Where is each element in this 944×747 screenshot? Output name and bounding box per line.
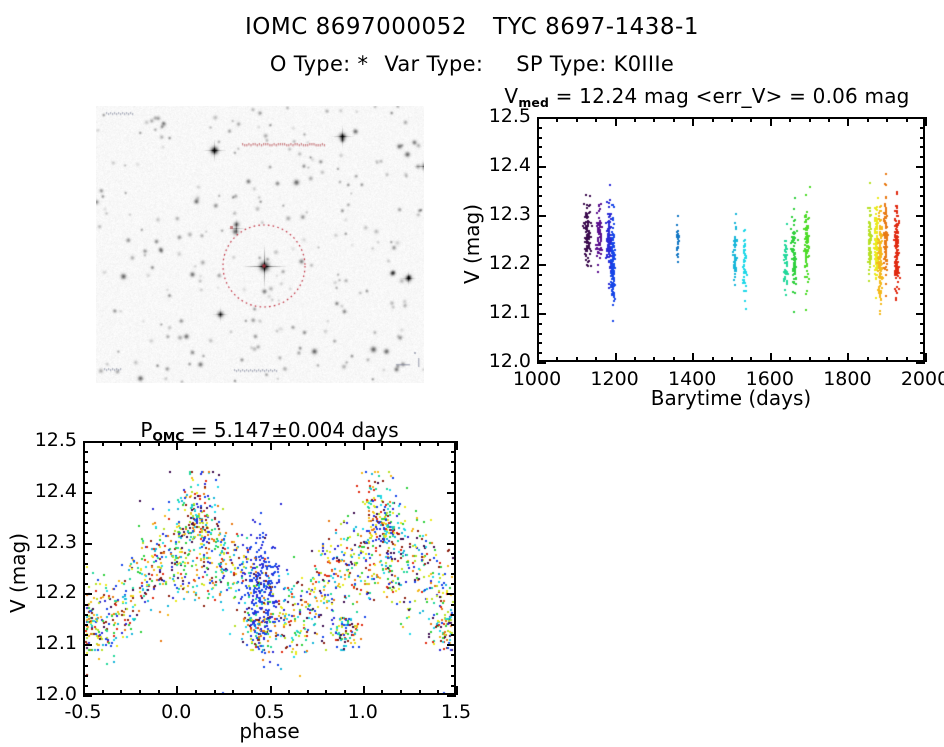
y-tick-label: 12.5 bbox=[475, 105, 531, 127]
axis-tick bbox=[83, 492, 92, 494]
lightcurve-datapoints bbox=[539, 119, 923, 360]
finder-chart bbox=[96, 106, 424, 383]
y-tick-label: 12.1 bbox=[21, 632, 77, 654]
o-type-value: * bbox=[358, 52, 369, 76]
axis-tick bbox=[83, 604, 88, 606]
axis-tick bbox=[214, 441, 216, 446]
catalog-id: IOMC 8697000052 bbox=[245, 14, 467, 40]
axis-tick bbox=[447, 492, 456, 494]
y-tick-label: 12.0 bbox=[21, 683, 77, 705]
axis-tick bbox=[447, 644, 456, 646]
axis-tick bbox=[537, 235, 542, 237]
period-label: P bbox=[140, 418, 152, 442]
axis-tick bbox=[447, 441, 456, 443]
axis-tick bbox=[83, 522, 88, 524]
axis-tick bbox=[232, 441, 234, 446]
axis-tick bbox=[828, 117, 830, 122]
axis-tick bbox=[451, 624, 456, 626]
axis-tick bbox=[214, 690, 216, 695]
axis-tick bbox=[400, 690, 402, 695]
y-tick-label: 12.4 bbox=[21, 480, 77, 502]
axis-tick bbox=[615, 353, 617, 362]
axis-tick bbox=[537, 176, 542, 178]
axis-tick bbox=[731, 357, 733, 362]
axis-tick bbox=[447, 593, 456, 595]
axis-tick bbox=[673, 357, 675, 362]
axis-tick bbox=[451, 532, 456, 534]
axis-tick bbox=[419, 690, 421, 695]
axis-tick bbox=[537, 205, 542, 207]
phase-plot-y-axis-label: V (mag) bbox=[6, 533, 30, 613]
axis-tick bbox=[288, 690, 290, 695]
axis-tick bbox=[451, 471, 456, 473]
axis-tick bbox=[102, 690, 104, 695]
phase-plot-datapoints bbox=[85, 443, 454, 693]
axis-tick bbox=[906, 117, 908, 122]
axis-tick bbox=[176, 441, 178, 450]
axis-tick bbox=[692, 353, 694, 362]
axis-tick bbox=[920, 195, 925, 197]
axis-tick bbox=[381, 690, 383, 695]
axis-tick bbox=[920, 342, 925, 344]
axis-tick bbox=[451, 553, 456, 555]
axis-tick bbox=[325, 441, 327, 446]
axis-tick bbox=[537, 117, 546, 119]
axis-tick bbox=[556, 117, 558, 122]
axis-tick bbox=[886, 357, 888, 362]
o-type-label: O Type: bbox=[270, 52, 351, 76]
axis-tick bbox=[920, 146, 925, 148]
axis-tick bbox=[809, 117, 811, 122]
axis-tick bbox=[809, 357, 811, 362]
axis-tick bbox=[653, 117, 655, 122]
axis-tick bbox=[363, 686, 365, 695]
axis-tick bbox=[916, 362, 925, 364]
axis-tick bbox=[537, 244, 542, 246]
axis-tick bbox=[456, 686, 458, 695]
axis-tick bbox=[920, 323, 925, 325]
phase-plot-title: POMC = 5.147±0.004 days bbox=[83, 418, 456, 442]
axis-tick bbox=[789, 117, 791, 122]
axis-tick bbox=[270, 686, 272, 695]
axis-tick bbox=[176, 686, 178, 695]
axis-tick bbox=[750, 117, 752, 122]
axis-tick bbox=[916, 264, 925, 266]
axis-tick bbox=[537, 303, 542, 305]
y-tick-label: 12.1 bbox=[475, 301, 531, 323]
axis-tick bbox=[288, 441, 290, 446]
axis-tick bbox=[120, 441, 122, 446]
axis-tick bbox=[451, 604, 456, 606]
tyc-id: TYC 8697-1438-1 bbox=[493, 14, 699, 40]
axis-tick bbox=[307, 441, 309, 446]
axis-tick bbox=[451, 451, 456, 453]
axis-tick bbox=[920, 176, 925, 178]
axis-tick bbox=[920, 352, 925, 354]
axis-tick bbox=[920, 156, 925, 158]
axis-tick bbox=[83, 471, 88, 473]
axis-tick bbox=[83, 461, 88, 463]
axis-tick bbox=[537, 342, 542, 344]
axis-tick bbox=[451, 583, 456, 585]
axis-tick bbox=[447, 695, 456, 697]
axis-tick bbox=[83, 451, 88, 453]
axis-tick bbox=[195, 690, 197, 695]
axis-tick bbox=[451, 614, 456, 616]
axis-tick bbox=[139, 441, 141, 446]
axis-tick bbox=[920, 137, 925, 139]
y-tick-label: 12.4 bbox=[475, 154, 531, 176]
axis-tick bbox=[400, 441, 402, 446]
page-title: IOMC 8697000052TYC 8697-1438-1 bbox=[0, 14, 944, 40]
period-value: = 5.147±0.004 days bbox=[184, 418, 398, 442]
axis-tick bbox=[770, 117, 772, 126]
axis-tick bbox=[920, 274, 925, 276]
var-type-label: Var Type: bbox=[384, 52, 483, 76]
axis-tick bbox=[83, 593, 92, 595]
axis-tick bbox=[867, 357, 869, 362]
axis-tick bbox=[120, 690, 122, 695]
axis-tick bbox=[344, 690, 346, 695]
axis-tick bbox=[634, 117, 636, 122]
figure-root: IOMC 8697000052TYC 8697-1438-1 O Type: *… bbox=[0, 0, 944, 747]
axis-tick bbox=[537, 127, 542, 129]
axis-tick bbox=[916, 313, 925, 315]
axis-tick bbox=[537, 264, 546, 266]
axis-tick bbox=[83, 512, 88, 514]
axis-tick bbox=[325, 690, 327, 695]
axis-tick bbox=[537, 137, 542, 139]
axis-tick bbox=[653, 357, 655, 362]
axis-tick bbox=[916, 117, 925, 119]
axis-tick bbox=[537, 225, 542, 227]
axis-tick bbox=[158, 441, 160, 446]
axis-tick bbox=[712, 117, 714, 122]
axis-tick bbox=[920, 293, 925, 295]
axis-tick bbox=[83, 614, 88, 616]
axis-tick bbox=[537, 254, 542, 256]
axis-tick bbox=[920, 254, 925, 256]
axis-tick bbox=[83, 695, 92, 697]
axis-tick bbox=[451, 461, 456, 463]
phase-plot-x-axis-label: phase bbox=[83, 719, 456, 743]
axis-tick bbox=[750, 357, 752, 362]
axis-tick bbox=[595, 117, 597, 122]
axis-tick bbox=[451, 502, 456, 504]
axis-tick bbox=[537, 284, 542, 286]
axis-tick bbox=[867, 117, 869, 122]
axis-tick bbox=[451, 685, 456, 687]
axis-tick bbox=[437, 690, 439, 695]
axis-tick bbox=[83, 654, 88, 656]
axis-tick bbox=[537, 156, 542, 158]
axis-tick bbox=[381, 441, 383, 446]
axis-tick bbox=[925, 353, 927, 362]
axis-tick bbox=[537, 352, 542, 354]
axis-tick bbox=[537, 195, 542, 197]
axis-tick bbox=[447, 543, 456, 545]
axis-tick bbox=[692, 117, 694, 126]
lightcurve-y-axis-label: V (mag) bbox=[460, 204, 484, 284]
y-tick-label: 12.0 bbox=[475, 350, 531, 372]
axis-tick bbox=[847, 353, 849, 362]
axis-tick bbox=[83, 573, 88, 575]
axis-tick bbox=[83, 644, 92, 646]
axis-tick bbox=[232, 690, 234, 695]
axis-tick bbox=[537, 353, 539, 362]
axis-tick bbox=[363, 441, 365, 450]
axis-tick bbox=[537, 293, 542, 295]
axis-tick bbox=[451, 675, 456, 677]
axis-tick bbox=[920, 186, 925, 188]
axis-tick bbox=[576, 357, 578, 362]
axis-tick bbox=[576, 117, 578, 122]
axis-tick bbox=[920, 333, 925, 335]
vmed-summary-line: Vmed = 12.24 mag <err_V> = 0.06 mag bbox=[470, 84, 944, 108]
axis-tick bbox=[83, 482, 88, 484]
axis-tick bbox=[83, 563, 88, 565]
sp-type-label: SP Type: bbox=[516, 52, 606, 76]
axis-tick bbox=[537, 166, 546, 168]
axis-tick bbox=[270, 441, 272, 450]
axis-tick bbox=[451, 573, 456, 575]
axis-tick bbox=[537, 274, 542, 276]
axis-tick bbox=[537, 362, 546, 364]
axis-tick bbox=[83, 441, 92, 443]
axis-tick bbox=[615, 117, 617, 126]
axis-tick bbox=[83, 686, 85, 695]
axis-tick bbox=[83, 502, 88, 504]
axis-tick bbox=[920, 244, 925, 246]
axis-tick bbox=[537, 323, 542, 325]
axis-tick bbox=[537, 215, 546, 217]
vmed-text: = 12.24 mag <err_V> = 0.06 mag bbox=[549, 84, 909, 108]
axis-tick bbox=[307, 690, 309, 695]
axis-tick bbox=[437, 441, 439, 446]
axis-tick bbox=[712, 357, 714, 362]
axis-tick bbox=[83, 665, 88, 667]
axis-tick bbox=[451, 634, 456, 636]
axis-tick bbox=[731, 117, 733, 122]
axis-tick bbox=[789, 357, 791, 362]
axis-tick bbox=[83, 624, 88, 626]
axis-tick bbox=[556, 357, 558, 362]
axis-tick bbox=[102, 441, 104, 446]
axis-tick bbox=[158, 690, 160, 695]
axis-tick bbox=[83, 583, 88, 585]
sp-type-value: K0IIIe bbox=[614, 52, 674, 76]
axis-tick bbox=[595, 357, 597, 362]
axis-tick bbox=[195, 441, 197, 446]
axis-tick bbox=[451, 665, 456, 667]
axis-tick bbox=[83, 634, 88, 636]
axis-tick bbox=[344, 441, 346, 446]
axis-tick bbox=[770, 353, 772, 362]
axis-tick bbox=[920, 235, 925, 237]
axis-tick bbox=[920, 284, 925, 286]
axis-tick bbox=[419, 441, 421, 446]
axis-tick bbox=[537, 333, 542, 335]
axis-tick bbox=[83, 685, 88, 687]
axis-tick bbox=[916, 166, 925, 168]
axis-tick bbox=[925, 117, 927, 126]
axis-tick bbox=[847, 117, 849, 126]
finder-chart-image bbox=[96, 106, 424, 383]
axis-tick bbox=[920, 127, 925, 129]
axis-tick bbox=[251, 690, 253, 695]
axis-tick bbox=[537, 186, 542, 188]
axis-tick bbox=[451, 512, 456, 514]
axis-tick bbox=[83, 675, 88, 677]
y-tick-label: 12.5 bbox=[21, 429, 77, 451]
lightcurve-x-axis-label: Barytime (days) bbox=[537, 386, 925, 410]
axis-tick bbox=[139, 690, 141, 695]
axis-tick bbox=[906, 357, 908, 362]
axis-tick bbox=[456, 441, 458, 450]
axis-tick bbox=[920, 225, 925, 227]
axis-tick bbox=[83, 553, 88, 555]
axis-tick bbox=[537, 146, 542, 148]
axis-tick bbox=[920, 303, 925, 305]
axis-tick bbox=[451, 563, 456, 565]
axis-tick bbox=[920, 205, 925, 207]
axis-tick bbox=[828, 357, 830, 362]
axis-tick bbox=[451, 654, 456, 656]
axis-tick bbox=[886, 117, 888, 122]
axis-tick bbox=[451, 522, 456, 524]
axis-tick bbox=[83, 543, 92, 545]
object-type-line: O Type: *Var Type: SP Type: K0IIIe bbox=[0, 52, 944, 76]
axis-tick bbox=[916, 215, 925, 217]
axis-tick bbox=[634, 357, 636, 362]
axis-tick bbox=[537, 313, 546, 315]
axis-tick bbox=[83, 532, 88, 534]
axis-tick bbox=[451, 482, 456, 484]
axis-tick bbox=[251, 441, 253, 446]
axis-tick bbox=[673, 117, 675, 122]
